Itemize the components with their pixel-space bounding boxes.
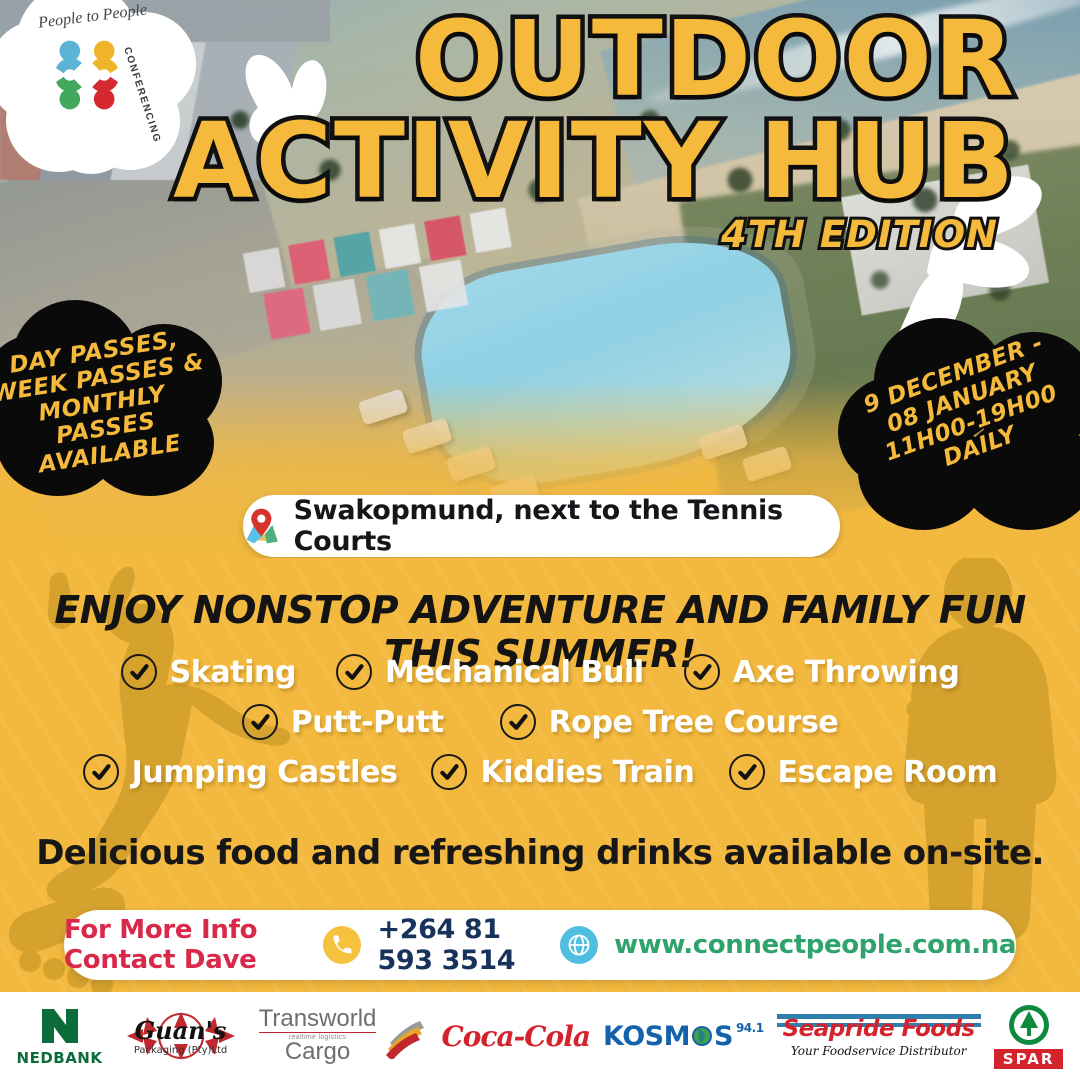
kosmos-globe-icon	[691, 1025, 713, 1047]
passes-badge: DAY PASSES, WEEK PASSES & MONTHLY PASSES…	[0, 300, 232, 500]
globe-icon[interactable]	[560, 926, 598, 964]
activity-label: Putt-Putt	[291, 705, 444, 740]
activity-item[interactable]: Escape Room	[729, 754, 998, 790]
sponsor-name: NEDBANK	[17, 1049, 103, 1067]
sponsor-cocacola: Coca-Cola	[441, 1020, 590, 1053]
sponsor-name: Seapride Foods	[783, 1016, 975, 1042]
sponsor-nedbank: NEDBANK	[17, 1005, 103, 1067]
activity-row: Jumping Castles Kiddies Train Escape Roo…	[0, 754, 1080, 790]
check-icon	[431, 754, 467, 790]
activity-label: Escape Room	[778, 755, 998, 790]
sponsor-transworld: Transworld realtime logistics Cargo	[259, 1008, 429, 1064]
sponsor-name: Coca-Cola	[441, 1020, 590, 1053]
check-icon	[83, 754, 119, 790]
sponsor-bar: NEDBANK Guan's Packaging (Pty)Ltd	[0, 992, 1080, 1080]
activity-item[interactable]: Kiddies Train	[431, 754, 694, 790]
check-icon	[242, 704, 278, 740]
sponsor-guans: Guan's Packaging (Pty)Ltd	[116, 1011, 246, 1061]
poster-title: OUTDOOR ACTIVITY HUB 4TH EDITION	[0, 12, 1080, 256]
activity-label: Jumping Castles	[132, 755, 398, 790]
sponsor-name-2: S	[714, 1021, 733, 1052]
activity-label: Rope Tree Course	[549, 705, 839, 740]
activity-label: Axe Throwing	[733, 655, 960, 690]
sponsor-name: SPAR	[994, 1049, 1064, 1069]
activities-list: Skating Mechanical Bull Axe Throwing	[0, 654, 1080, 804]
nedbank-logo-icon	[38, 1005, 82, 1047]
contact-bar: For More Info Contact Dave +264 81 593 3…	[64, 910, 1016, 980]
location-pill[interactable]: Swakopmund, next to the Tennis Courts	[243, 495, 840, 557]
title-line-2: ACTIVITY HUB	[0, 114, 1016, 210]
poster-root: CONNECT EVENTS - TEAM BUILDING - CONFERE…	[0, 0, 1080, 1080]
activity-label: Skating	[170, 655, 296, 690]
sponsor-name: Transworld	[259, 1008, 377, 1031]
sponsor-spar: SPAR	[994, 1003, 1064, 1069]
activity-item[interactable]: Mechanical Bull	[336, 654, 644, 690]
food-note-text: Delicious food and refreshing drinks ava…	[0, 833, 1080, 873]
sponsor-name: KOSM	[603, 1021, 690, 1052]
transworld-mark-icon	[382, 1013, 428, 1059]
sponsor-kosmos: KOSM S 94.1	[603, 1021, 764, 1052]
check-icon	[121, 654, 157, 690]
title-line-1: OUTDOOR	[0, 12, 1016, 108]
sponsor-name: Guan's	[134, 1016, 227, 1045]
activity-row: Putt-Putt Rope Tree Course	[0, 704, 1080, 740]
sponsor-subtitle: Packaging (Pty)Ltd	[134, 1045, 227, 1056]
activity-item[interactable]: Putt-Putt	[242, 704, 444, 740]
website-url[interactable]: www.connectpeople.com.na	[614, 930, 1016, 960]
map-pin-icon	[243, 505, 280, 547]
sponsor-name-2: Cargo	[259, 1041, 377, 1064]
sponsor-subtitle: Your Foodservice Distributor	[791, 1044, 967, 1058]
check-icon	[336, 654, 372, 690]
check-icon	[684, 654, 720, 690]
phone-icon[interactable]	[323, 926, 361, 964]
activity-row: Skating Mechanical Bull Axe Throwing	[0, 654, 1080, 690]
activity-item[interactable]: Jumping Castles	[83, 754, 398, 790]
activity-item[interactable]: Axe Throwing	[684, 654, 960, 690]
dates-badge: 9 DECEMBER - 08 JANUARY 11H00-19H00 DAIL…	[838, 318, 1080, 534]
spar-fir-icon	[1006, 1003, 1052, 1047]
contact-lead-text: For More Info Contact Dave	[64, 915, 307, 975]
sponsor-seapride: Seapride Foods Your Foodservice Distribu…	[777, 1014, 981, 1058]
phone-number[interactable]: +264 81 593 3514	[377, 914, 544, 976]
check-icon	[500, 704, 536, 740]
activity-item[interactable]: Rope Tree Course	[500, 704, 839, 740]
activity-item[interactable]: Skating	[121, 654, 296, 690]
location-text: Swakopmund, next to the Tennis Courts	[294, 495, 840, 557]
activity-label: Mechanical Bull	[385, 655, 644, 690]
sponsor-subtitle: 94.1	[736, 1021, 764, 1035]
activity-label: Kiddies Train	[480, 755, 694, 790]
check-icon	[729, 754, 765, 790]
